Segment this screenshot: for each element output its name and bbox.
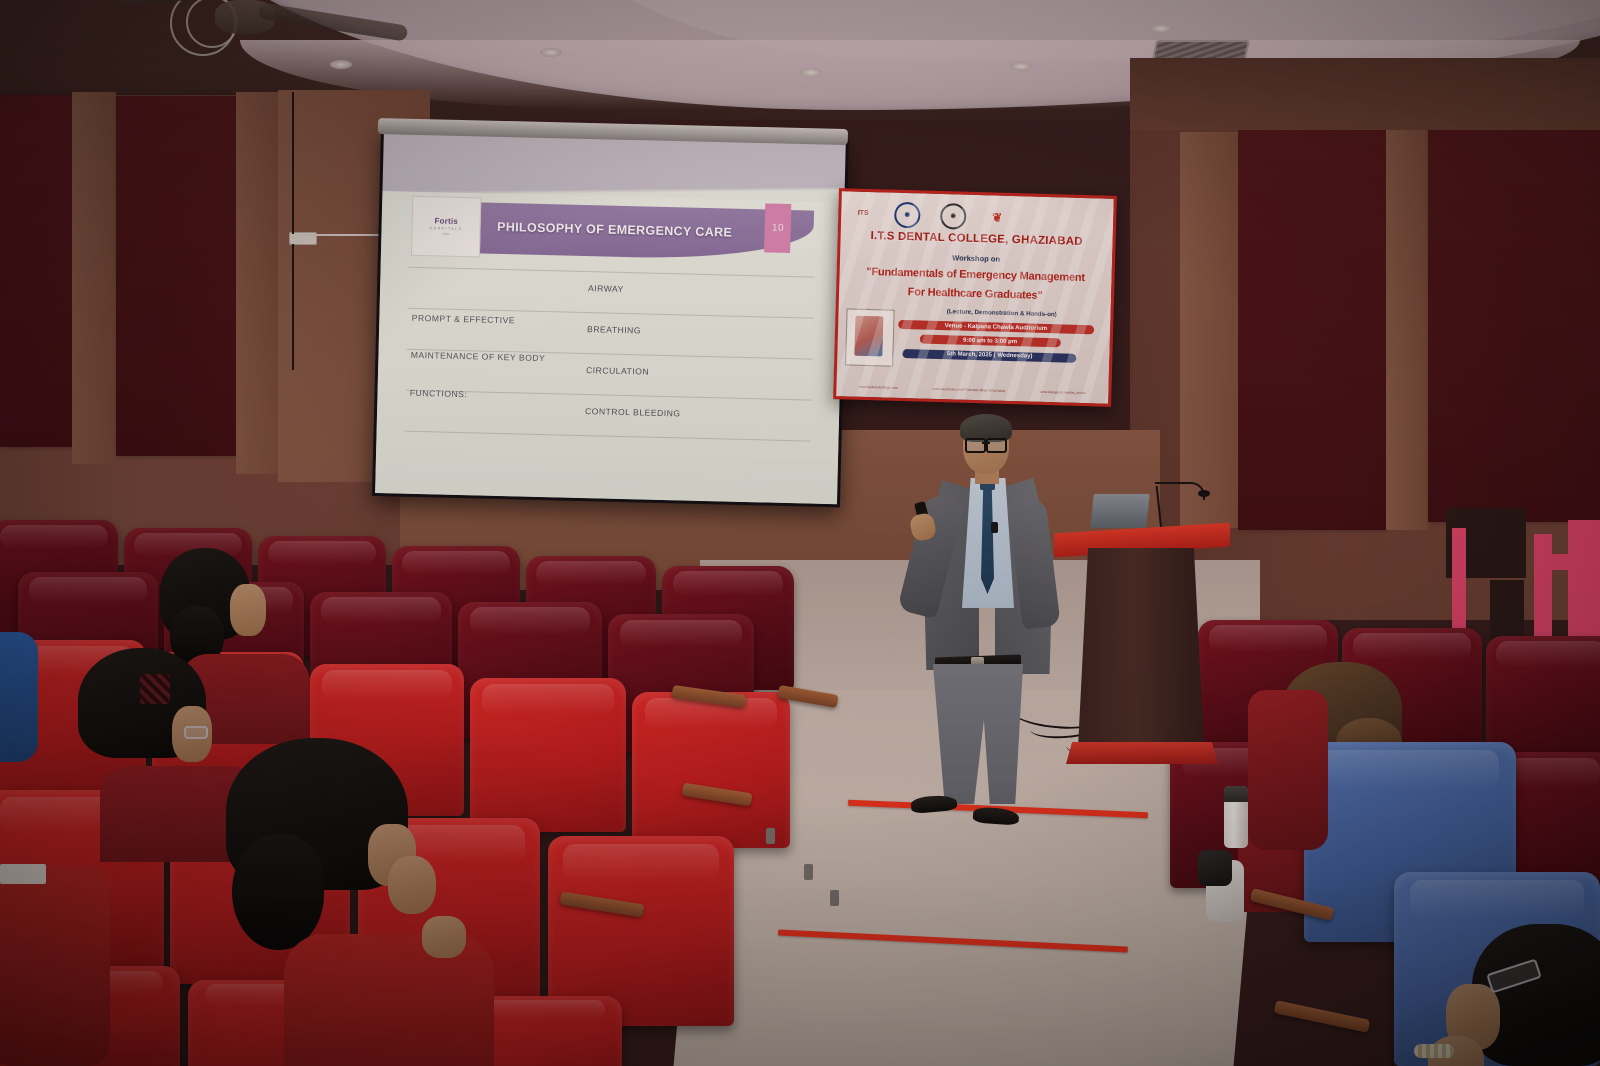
seat-armrest	[1274, 1000, 1371, 1033]
wall-pilaster	[1386, 126, 1428, 530]
acoustic-panel	[0, 95, 72, 447]
banner-venue: Venue - Kalpana Chawla Auditorium	[898, 320, 1094, 334]
tumbler-lid	[1224, 786, 1248, 802]
auditorium-seat[interactable]	[632, 692, 790, 848]
lectern-base	[1066, 742, 1218, 764]
logo-tagline: Noida	[442, 233, 449, 236]
auditorium-photograph: Fortis HOSPITALS Noida PHILOSOPHY OF EME…	[0, 0, 1600, 1066]
bracelet	[1414, 1044, 1454, 1058]
bag-item	[1198, 850, 1232, 886]
pink-panel	[1534, 534, 1552, 640]
hand	[388, 856, 436, 914]
downlight-icon	[800, 68, 822, 77]
downlight-icon	[540, 48, 562, 57]
banner-illustration	[845, 308, 895, 367]
wall-pilaster	[1130, 58, 1600, 130]
banner-theme-line1: "Fundamentals of Emergency Management	[840, 265, 1112, 285]
notebook	[0, 864, 46, 884]
slide-left-line: FUNCTIONS:	[410, 388, 468, 399]
face	[230, 584, 266, 636]
lapel-microphone-icon	[991, 522, 998, 533]
emblem-icon: ❦	[986, 206, 1009, 229]
forearm	[422, 916, 466, 958]
speaker-presenter	[905, 418, 1065, 818]
banner-time: 9:00 am to 3:00 pm	[919, 335, 1061, 348]
hanging-cable	[300, 234, 384, 236]
banner-subtitle: (Lecture, Demonstration & Hands-on)	[898, 307, 1105, 320]
laptop[interactable]	[1090, 494, 1150, 528]
seat-leg	[766, 828, 775, 844]
hanging-cable	[292, 244, 294, 370]
seat-leg	[830, 890, 839, 906]
ponytail	[232, 834, 324, 950]
slide-bullet-airway: AIRWAY	[588, 283, 624, 294]
trousers	[929, 664, 1027, 804]
banner-footer: www.itsdentalcollege.com www.facebook.co…	[842, 379, 1103, 401]
slide-left-line: MAINTENANCE OF KEY BODY	[411, 350, 546, 363]
torso	[1248, 690, 1328, 850]
eyeglasses-icon	[184, 726, 208, 739]
pink-panel	[1452, 528, 1466, 632]
slide-divider	[408, 267, 814, 278]
lectern-body	[1078, 548, 1204, 748]
slide-bullet-breathing: BREATHING	[587, 324, 641, 335]
torso	[0, 632, 38, 762]
banner-date: 5th March, 2025 ( Wednesday)	[903, 349, 1077, 363]
water-tumbler[interactable]	[1224, 786, 1248, 848]
fortis-logo: Fortis HOSPITALS Noida	[411, 196, 481, 257]
council-seal-icon: ◉	[940, 203, 967, 230]
event-banner: ITS ◉ ◉ ❦ I.T.S DENTAL COLLEGE, GHAZIABA…	[833, 188, 1117, 407]
projection-screen: Fortis HOSPITALS Noida PHILOSOPHY OF EME…	[372, 128, 849, 507]
wall-pilaster	[1180, 132, 1238, 528]
auditorium-seat[interactable]	[470, 678, 626, 832]
acoustic-panel	[1238, 130, 1386, 530]
downlight-icon	[1010, 62, 1032, 71]
logo-wordmark: Fortis	[434, 217, 458, 227]
hanging-cable	[292, 92, 294, 234]
downlight-icon	[330, 60, 352, 69]
slide-title: PHILOSOPHY OF EMERGENCY CARE	[497, 210, 756, 250]
presentation-slide: Fortis HOSPITALS Noida PHILOSOPHY OF EME…	[375, 191, 844, 504]
slide-number-badge: 10	[765, 204, 792, 253]
wall-pilaster	[236, 92, 278, 474]
banner-website: www.itsdentalcollege.com	[859, 385, 898, 390]
university-seal-icon: ◉	[894, 201, 921, 228]
gooseneck-mic-arm	[1155, 482, 1205, 500]
banner-theme-line2: For Healthcare Graduates"	[839, 284, 1111, 304]
lectern	[1068, 528, 1218, 768]
seat-leg	[804, 864, 813, 880]
banner-instagram: www.instagram.com/its_dental	[1040, 390, 1086, 395]
banner-facebook: www.facebook.com/ITSdentalcollege.Ghazia…	[932, 387, 1005, 393]
pink-panel	[1568, 520, 1600, 640]
slide-divider	[404, 430, 810, 441]
slide-left-line: PROMPT & EFFECTIVE	[412, 312, 516, 325]
eyeglasses-icon	[965, 438, 1007, 450]
torso	[284, 934, 494, 1066]
its-logo-icon: ITS	[852, 202, 875, 225]
shoe-left	[910, 794, 957, 814]
slide-bullet-circulation: CIRCULATION	[586, 365, 649, 377]
logo-subtitle: HOSPITALS	[429, 227, 462, 232]
acoustic-panel	[116, 96, 236, 456]
necktie	[981, 482, 994, 594]
downlight-icon	[1150, 24, 1172, 33]
acoustic-panel	[1428, 122, 1600, 522]
torso	[0, 866, 110, 1066]
slide-number: 10	[772, 223, 784, 234]
hair-clip	[140, 674, 170, 704]
wall-pilaster	[72, 92, 116, 464]
banner-workshop-label: Workshop on	[840, 251, 1112, 268]
microphone-icon	[1198, 490, 1210, 497]
slide-bullet-control-bleeding: CONTROL BLEEDING	[585, 406, 681, 418]
